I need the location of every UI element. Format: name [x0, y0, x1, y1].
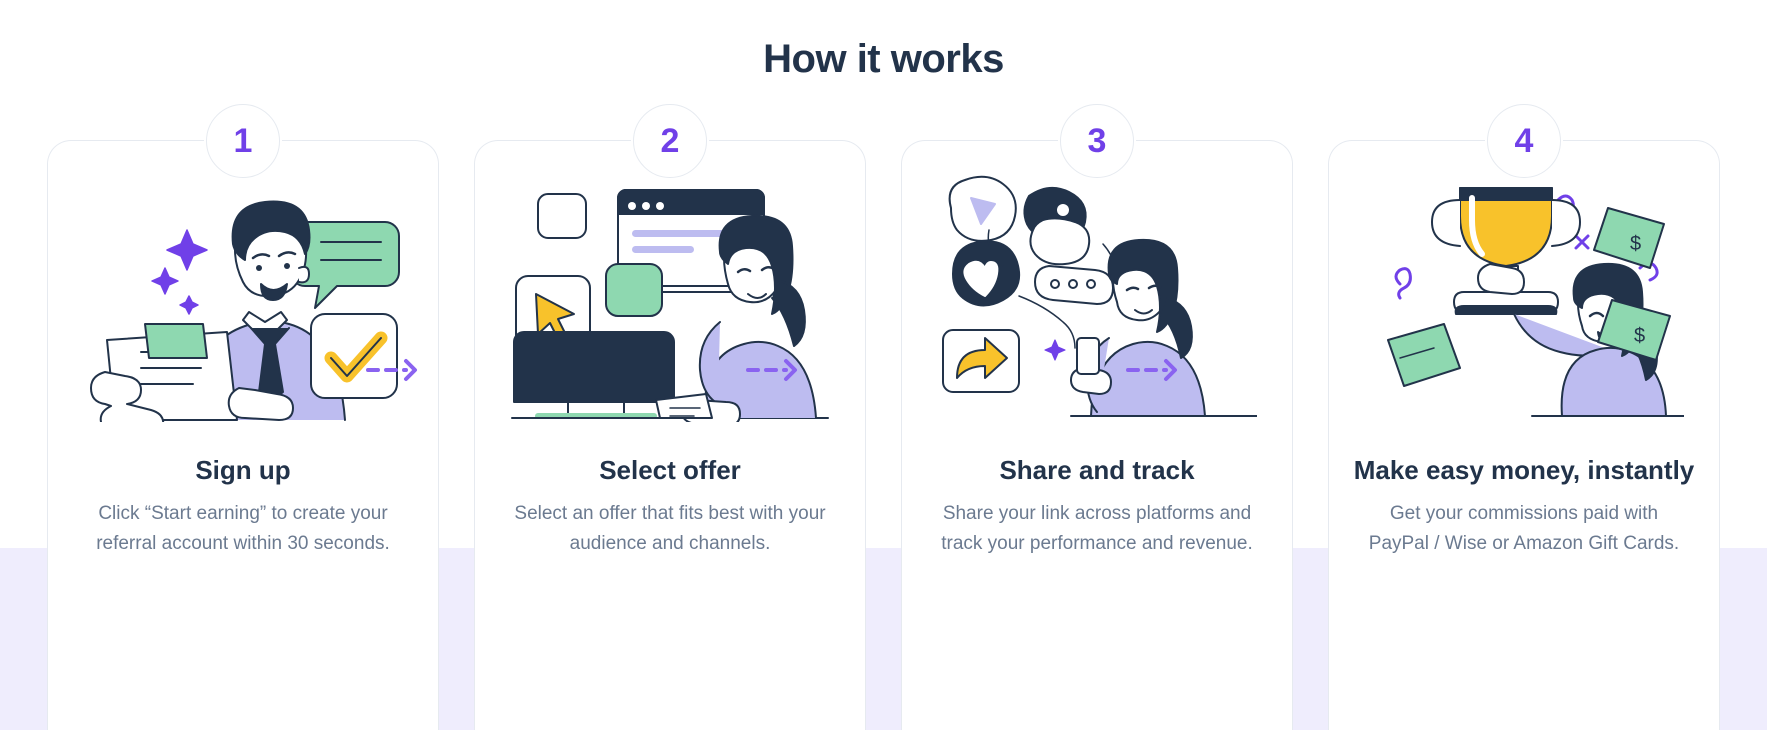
step-title-4: Make easy money, instantly: [1336, 455, 1713, 486]
step-title-2: Select offer: [581, 455, 759, 486]
step-title-3: Share and track: [981, 455, 1212, 486]
signup-illustration: [47, 147, 439, 447]
dashed-arrow-2: [746, 357, 802, 383]
step-card-4[interactable]: 4: [1328, 140, 1720, 730]
step-description-2: Select an offer that fits best with your…: [475, 499, 865, 558]
step-card-3[interactable]: 3: [901, 140, 1293, 730]
step-description-4: Get your commissions paid with PayPal / …: [1329, 499, 1719, 558]
step-number-badge-2: 2: [633, 104, 707, 178]
select-offer-illustration: [474, 147, 866, 447]
svg-text:$: $: [1630, 233, 1641, 255]
dashed-arrow-3: [1126, 357, 1182, 383]
step-number-badge-1: 1: [206, 104, 280, 178]
share-track-illustration: [901, 147, 1293, 447]
step-card-1[interactable]: 1: [47, 140, 439, 730]
step-number-badge-3: 3: [1060, 104, 1134, 178]
step-description-3: Share your link across platforms and tra…: [902, 499, 1292, 558]
step-title-1: Sign up: [177, 455, 308, 486]
step-number-badge-4: 4: [1487, 104, 1561, 178]
steps-container: 1: [0, 140, 1767, 730]
step-description-1: Click “Start earning” to create your ref…: [48, 499, 438, 558]
dashed-arrow-1: [366, 357, 422, 383]
step-card-2[interactable]: 2: [474, 140, 866, 730]
page-title: How it works: [0, 37, 1767, 82]
svg-text:$: $: [1634, 325, 1645, 347]
trophy-illustration: $ $: [1328, 147, 1720, 447]
